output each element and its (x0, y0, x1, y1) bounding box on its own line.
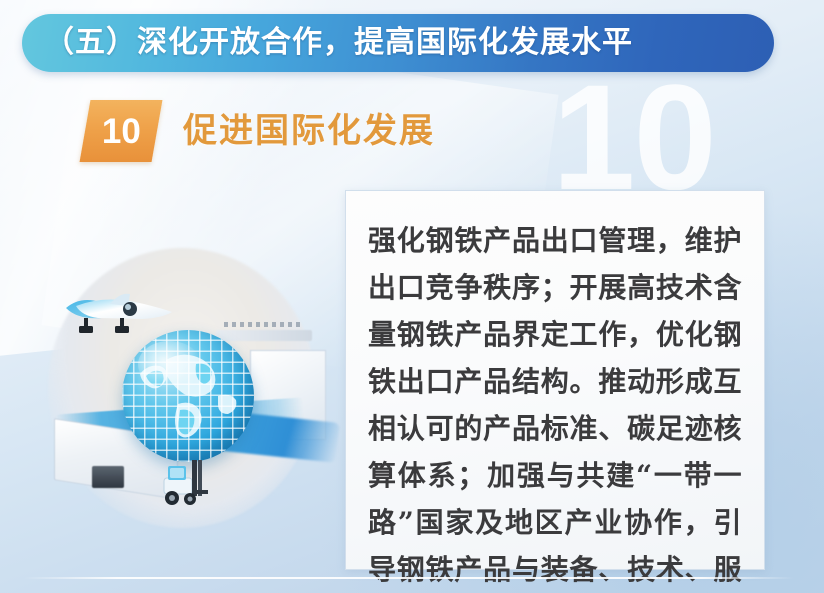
globe-icon (122, 330, 254, 462)
content-paragraph: 强化钢铁产品出口管理，维护出口竞争秩序；开展高技术含量钢铁产品界定工作，优化钢铁… (368, 217, 742, 593)
infographic-page: （五）深化开放合作，提高国际化发展水平 10 10 促进国际化发展 (0, 0, 824, 593)
section-title: 促进国际化发展 (183, 114, 435, 148)
bottom-divider (24, 577, 794, 579)
warehouse-beam-icon (216, 330, 312, 341)
section-number-badge: 10 (80, 100, 163, 162)
pallet-icon (92, 466, 124, 488)
global-logistics-illustration (18, 238, 342, 562)
globe-highlight (138, 341, 201, 389)
section-header: 10 促进国际化发展 (85, 100, 435, 162)
warehouse-label-dots-icon (224, 322, 300, 327)
forklift-icon (158, 454, 216, 510)
banner-title: （五）深化开放合作，提高国际化发展水平 (44, 28, 633, 58)
header-banner: （五）深化开放合作，提高国际化发展水平 (22, 14, 774, 72)
section-number-label: 10 (102, 114, 141, 149)
content-card: 强化钢铁产品出口管理，维护出口竞争秩序；开展高技术含量钢铁产品界定工作，优化钢铁… (345, 190, 765, 570)
